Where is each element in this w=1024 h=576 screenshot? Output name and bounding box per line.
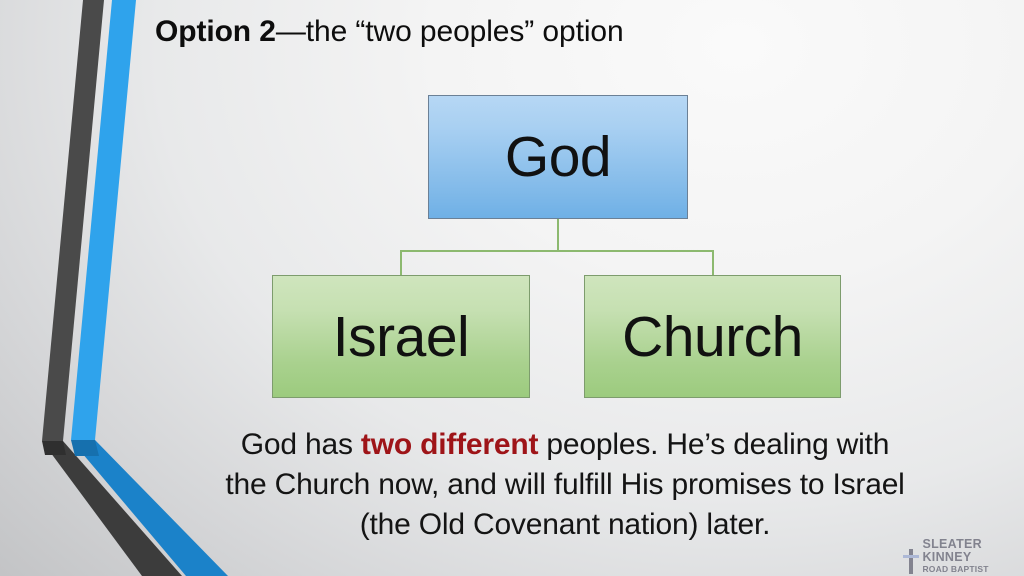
diagram-node-god: God [428, 95, 688, 219]
body-text-line-3: (the Old Covenant nation) later. [110, 505, 1020, 545]
connector-left-drop [400, 250, 402, 276]
diagram-node-church: Church [584, 275, 841, 398]
diagram-node-israel-label: Israel [333, 307, 469, 367]
church-logo: SLEATER KINNEY ROAD BAPTIST CHURCH [903, 538, 1024, 576]
body-text: God has two different peoples. He’s deal… [110, 425, 1020, 545]
body-text-line-1-post: peoples. He’s dealing with [538, 428, 889, 461]
connector-stem [557, 219, 559, 252]
body-text-highlight: two different [361, 428, 538, 461]
body-text-line-2: the Church now, and will fulfill His pro… [110, 465, 1020, 505]
body-text-line-1-pre: God has [241, 428, 361, 461]
cross-icon [903, 548, 917, 574]
diagram-node-church-label: Church [622, 307, 803, 367]
connector-right-drop [712, 250, 714, 276]
cross-icon-horizontal [903, 555, 919, 558]
slide-canvas: Option 2—the “two peoples” option God Is… [0, 0, 1024, 576]
church-logo-text: SLEATER KINNEY ROAD BAPTIST CHURCH [922, 538, 1024, 576]
diagram-node-israel: Israel [272, 275, 530, 398]
church-logo-name: SLEATER KINNEY [922, 538, 1024, 564]
body-text-line-1: God has two different peoples. He’s deal… [110, 425, 1020, 465]
church-logo-subtitle: ROAD BAPTIST CHURCH [922, 564, 1024, 576]
cross-icon-vertical [909, 549, 913, 574]
diagram-node-god-label: God [505, 127, 611, 187]
connector-horizontal-bar [400, 250, 714, 252]
